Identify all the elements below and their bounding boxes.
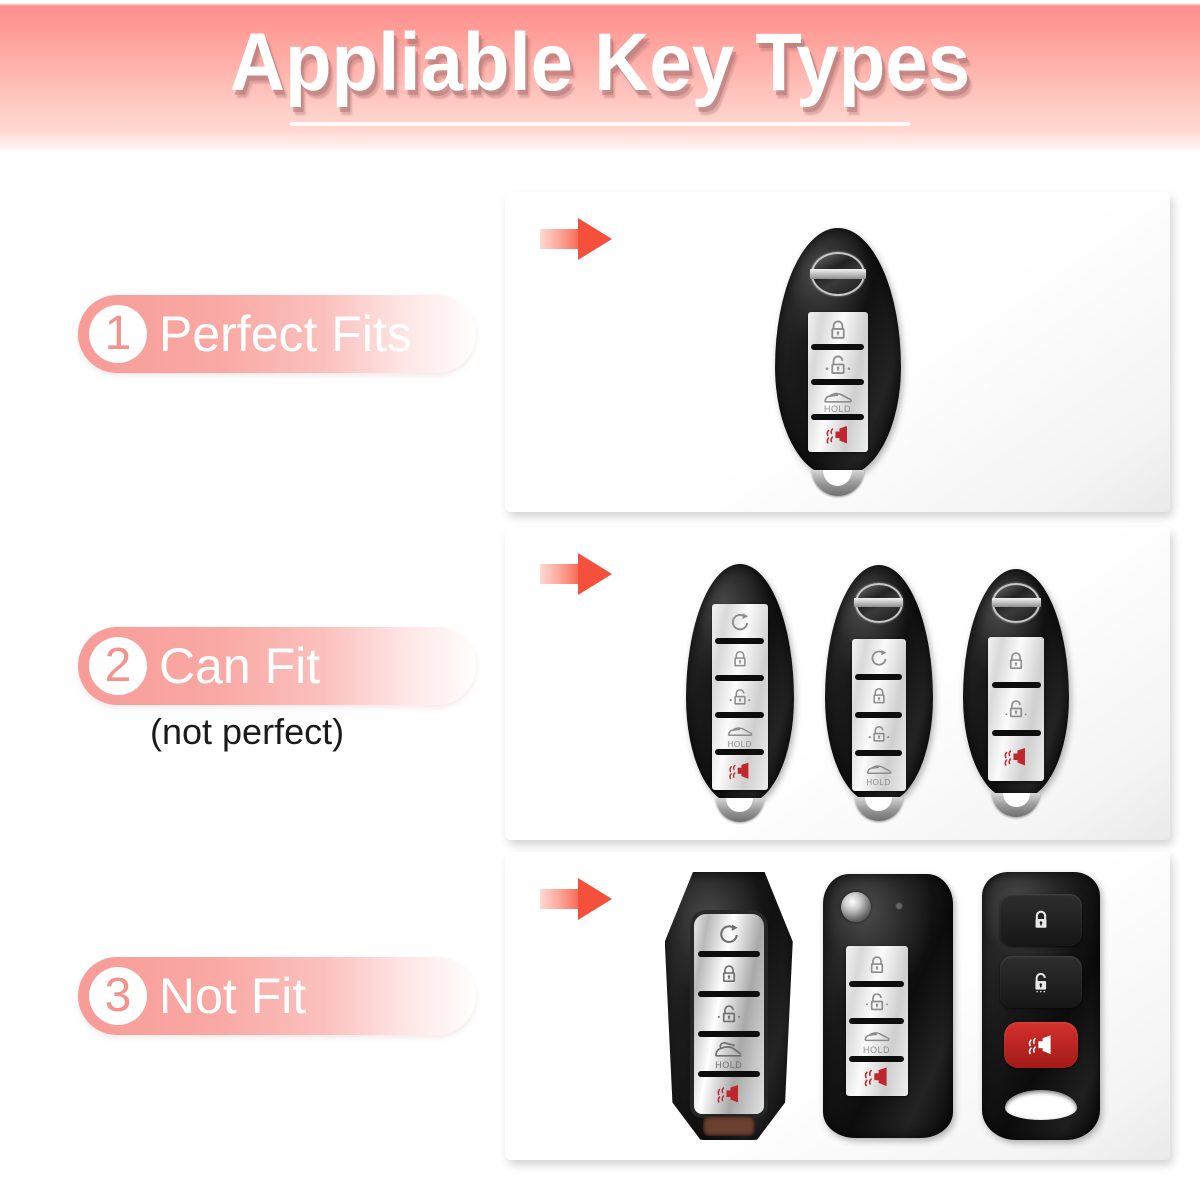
nissan-keyless-entry-remote-3-button <box>982 872 1100 1140</box>
remote-start-icon <box>868 647 890 669</box>
panic-button[interactable] <box>712 752 768 789</box>
nissan-emblem-icon <box>855 583 903 623</box>
keys-row-3: HOLD <box>505 852 1170 1160</box>
trunk-icon <box>725 722 755 740</box>
panic-horn-icon <box>823 424 853 446</box>
lock-icon <box>1004 649 1028 673</box>
unlock-button[interactable] <box>808 347 868 382</box>
key-panel-perfect-fits: HOLD <box>505 192 1170 512</box>
hold-label: HOLD <box>694 1060 764 1070</box>
nissan-emblem-icon <box>811 252 865 296</box>
led-indicator-icon <box>895 902 903 910</box>
lock-icon <box>717 962 741 986</box>
remote-start-icon <box>728 610 752 634</box>
fob-body <box>982 872 1100 1140</box>
panic-horn-icon <box>714 1083 744 1105</box>
section-number-1: 1 <box>89 305 147 363</box>
panic-horn-icon <box>1001 746 1031 768</box>
lock-button[interactable] <box>808 312 868 347</box>
pill-perfect-fits: 1 Perfect Fits <box>78 295 476 373</box>
unlock-icon <box>861 990 893 1014</box>
lock-button[interactable] <box>694 954 764 994</box>
unlock-button[interactable] <box>712 678 768 715</box>
hold-label: HOLD <box>808 404 868 414</box>
button-strip: HOLD <box>694 914 764 1114</box>
nissan-smart-key-4-button-start: HOLD <box>825 565 933 803</box>
trunk-hold-button[interactable]: HOLD <box>852 753 906 791</box>
button-strip: HOLD <box>852 639 906 791</box>
unlock-icon <box>1027 969 1055 995</box>
trunk-hold-button[interactable]: HOLD <box>712 715 768 752</box>
pill-not-fit: 3 Not Fit <box>78 957 476 1035</box>
trunk-icon <box>861 1027 893 1045</box>
unlock-button[interactable] <box>846 984 908 1022</box>
keys-row-1: HOLD <box>505 192 1170 512</box>
unlock-button[interactable] <box>852 715 906 753</box>
unlock-icon <box>1001 697 1031 721</box>
section-note-2: (not perfect) <box>150 711 476 753</box>
nissan-flip-key-4-button: HOLD <box>823 874 953 1138</box>
liftgate-hold-button[interactable]: HOLD <box>694 1034 764 1074</box>
panic-horn-icon <box>861 1066 893 1088</box>
nissan-smart-key-5-button: HOLD <box>686 564 794 804</box>
pill-can-fit: 2 Can Fit <box>78 627 476 705</box>
key-blade-slot <box>703 1116 755 1136</box>
nissan-emblem-icon <box>992 583 1040 623</box>
section-number-3: 3 <box>89 967 147 1025</box>
emblem-bar <box>854 598 903 607</box>
section-number-2: 2 <box>89 637 147 695</box>
unlock-button[interactable] <box>1000 956 1082 1008</box>
lock-icon <box>868 685 890 707</box>
panic-button[interactable] <box>694 1074 764 1114</box>
emblem-bar <box>810 269 866 279</box>
lock-icon <box>1028 907 1054 933</box>
unlock-icon <box>713 1002 745 1026</box>
section-label-1: 1 Perfect Fits <box>78 295 476 373</box>
hold-label: HOLD <box>846 1045 908 1055</box>
remote-start-button[interactable] <box>712 604 768 641</box>
button-strip: HOLD <box>712 604 768 790</box>
hold-label: HOLD <box>712 740 768 749</box>
nissan-smart-key-3-button <box>963 569 1069 799</box>
section-label-2: 2 Can Fit (not perfect) <box>78 627 476 753</box>
remote-start-icon <box>716 921 742 947</box>
unlock-icon <box>726 686 754 708</box>
lock-button[interactable] <box>852 677 906 715</box>
trunk-icon <box>864 760 894 778</box>
panic-horn-icon <box>726 761 754 781</box>
unlock-button[interactable] <box>988 685 1044 733</box>
lock-button[interactable] <box>988 637 1044 685</box>
nissan-angular-smart-key-5-button: HOLD <box>665 872 793 1140</box>
nissan-smart-key-4-button: HOLD <box>775 228 901 476</box>
key-ring-loop <box>992 793 1040 817</box>
emblem-bar <box>992 598 1041 607</box>
lock-button[interactable] <box>1000 894 1082 946</box>
fob-body: HOLD <box>825 565 933 803</box>
key-ring-loop <box>812 470 864 496</box>
key-ring-slot <box>1005 1090 1077 1120</box>
lock-icon <box>825 317 851 343</box>
key-blade-pivot-icon <box>841 892 871 922</box>
trunk-hold-button[interactable]: HOLD <box>808 382 868 417</box>
lock-icon <box>865 953 889 977</box>
panic-button[interactable] <box>1004 1022 1078 1068</box>
key-ring-loop <box>855 797 903 821</box>
trunk-hold-button[interactable]: HOLD <box>846 1021 908 1059</box>
fob-body: HOLD <box>686 564 794 804</box>
liftgate-icon <box>712 1041 746 1061</box>
section-title-3: Not Fit <box>159 957 306 1035</box>
lock-button[interactable] <box>846 946 908 984</box>
panic-horn-icon <box>1025 1034 1057 1056</box>
unlock-button[interactable] <box>694 994 764 1034</box>
hold-label: HOLD <box>852 778 906 787</box>
key-ring-loop <box>716 798 764 822</box>
label-column: 1 Perfect Fits 2 Can Fit (not perfect) 3… <box>0 0 500 1200</box>
key-panel-not-fit: HOLD <box>505 852 1170 1160</box>
fob-body: HOLD <box>665 872 793 1140</box>
remote-start-button[interactable] <box>852 639 906 677</box>
fob-body: HOLD <box>823 874 953 1138</box>
fob-body <box>963 569 1069 799</box>
lock-button[interactable] <box>712 641 768 678</box>
key-panel-can-fit: HOLD <box>505 527 1170 840</box>
button-strip: HOLD <box>808 312 868 452</box>
panic-button[interactable] <box>988 733 1044 781</box>
keys-row-2: HOLD <box>505 527 1170 840</box>
panic-button[interactable] <box>808 417 868 452</box>
lock-icon <box>729 648 751 670</box>
fob-body: HOLD <box>775 228 901 476</box>
remote-start-button[interactable] <box>694 914 764 954</box>
section-label-3: 3 Not Fit <box>78 957 476 1035</box>
button-strip: HOLD <box>846 946 908 1096</box>
section-title-1: Perfect Fits <box>159 295 412 373</box>
panic-button[interactable] <box>846 1059 908 1097</box>
button-strip <box>988 637 1044 781</box>
unlock-icon <box>865 723 893 745</box>
unlock-icon <box>822 352 854 378</box>
section-title-2: Can Fit <box>159 627 320 705</box>
